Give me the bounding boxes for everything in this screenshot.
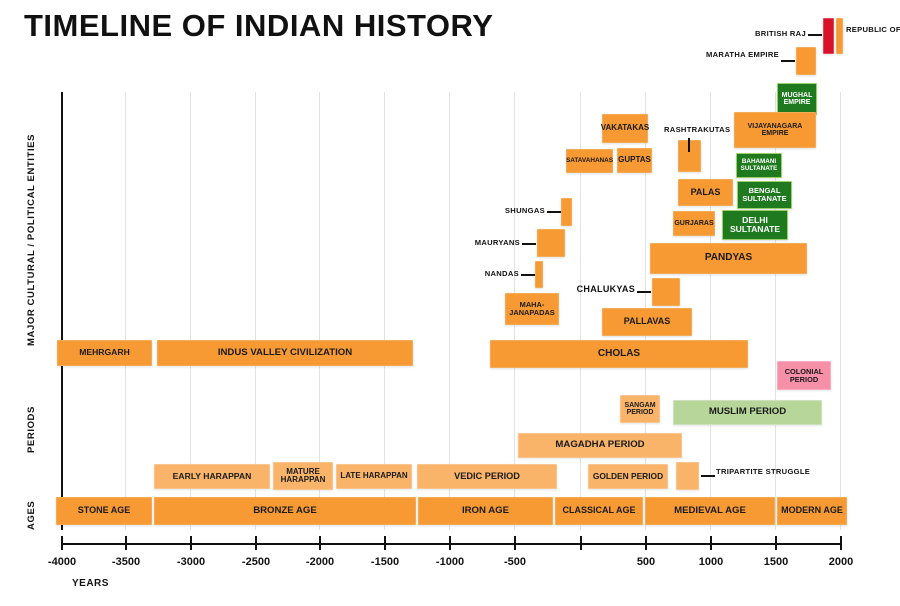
label-british-raj: BRITISH RAJ bbox=[694, 30, 806, 39]
label-medieval-age: MEDIEVAL AGE bbox=[672, 506, 748, 516]
leader-line-maratha bbox=[781, 60, 795, 62]
axis-group-ages: AGES bbox=[26, 492, 37, 538]
label-late-harappan: LATE HARAPPAN bbox=[338, 472, 409, 480]
label-chalukyas: CHALUKYAS bbox=[556, 284, 635, 294]
chart-plot-area: MAJOR CULTURAL / POLITICAL ENTITIES PERI… bbox=[0, 0, 900, 606]
x-axis-line bbox=[61, 543, 841, 545]
label-pandyas: PANDYAS bbox=[703, 253, 754, 264]
bar-vakatakas[interactable]: VAKATAKAS bbox=[602, 114, 648, 143]
label-cholas: CHOLAS bbox=[596, 349, 642, 360]
label-rashtrakutas: RASHTRAKUTAS bbox=[664, 126, 730, 135]
x-tick bbox=[190, 536, 192, 550]
label-vakatakas: VAKATAKAS bbox=[599, 124, 651, 132]
bar-bahamani-sultanate[interactable]: BAHAMANI SULTANATE bbox=[736, 153, 782, 178]
bar-pandyas[interactable]: PANDYAS bbox=[650, 243, 807, 274]
leader-line-chalukyas bbox=[637, 291, 651, 293]
label-bahamani-line2: SULTANATE bbox=[739, 166, 780, 173]
gridline bbox=[125, 92, 126, 530]
y-axis-line bbox=[61, 92, 63, 530]
bar-chalukyas[interactable] bbox=[652, 278, 680, 306]
label-republic-of-india: REPUBLIC OF INDIA bbox=[846, 26, 900, 35]
x-tick bbox=[125, 536, 127, 550]
label-stone-age: STONE AGE bbox=[76, 506, 133, 515]
bar-magadha-period[interactable]: MAGADHA PERIOD bbox=[518, 433, 682, 458]
x-tick bbox=[775, 536, 777, 550]
bar-delhi-sultanate[interactable]: DELHI SULTANATE bbox=[722, 210, 788, 240]
leader-line-nandas bbox=[521, 274, 535, 276]
leader-line-british-raj bbox=[808, 34, 822, 36]
bar-tripartite-struggle[interactable] bbox=[676, 462, 699, 490]
bar-indus-valley-civilization[interactable]: INDUS VALLEY CIVILIZATION bbox=[157, 340, 413, 366]
x-tick-label: 2000 bbox=[811, 556, 871, 568]
leader-line-tripartite bbox=[701, 475, 715, 477]
label-golden-period: GOLDEN PERIOD bbox=[591, 472, 665, 481]
x-tick-label: 500 bbox=[616, 556, 676, 568]
label-bengal-line2: SULTANATE bbox=[740, 195, 788, 203]
x-tick-label: -1500 bbox=[355, 556, 415, 568]
label-shungas: SHUNGAS bbox=[460, 207, 545, 216]
bar-mehrgarh[interactable]: MEHRGARH bbox=[57, 340, 152, 366]
x-tick bbox=[645, 536, 647, 550]
bar-shungas[interactable] bbox=[561, 198, 572, 226]
bar-stone-age[interactable]: STONE AGE bbox=[56, 497, 152, 525]
label-mughal-line1: MUGHAL bbox=[780, 92, 815, 99]
x-tick-label: -2500 bbox=[226, 556, 286, 568]
bar-sangam-period[interactable]: SANGAM PERIOD bbox=[620, 395, 660, 423]
label-iron-age: IRON AGE bbox=[460, 506, 511, 516]
bar-classical-age[interactable]: CLASSICAL AGE bbox=[555, 497, 643, 525]
label-sangam-line2: PERIOD bbox=[625, 409, 656, 416]
bar-british-raj[interactable] bbox=[823, 18, 834, 54]
x-tick-label: 1500 bbox=[746, 556, 806, 568]
x-tick bbox=[840, 536, 842, 550]
label-mehrgarh: MEHRGARH bbox=[77, 348, 132, 357]
bar-maratha-empire[interactable] bbox=[796, 47, 816, 75]
label-pallavas: PALLAVAS bbox=[622, 317, 673, 326]
x-tick-label: -3500 bbox=[96, 556, 156, 568]
label-republic-of-india-line1: REPUBLIC OF bbox=[846, 25, 900, 34]
x-tick bbox=[384, 536, 386, 550]
bar-mughal-empire[interactable]: MUGHAL EMPIRE bbox=[777, 83, 817, 115]
x-tick bbox=[710, 536, 712, 550]
bar-satavahanas[interactable]: SATAVAHANAS bbox=[566, 149, 613, 173]
label-tripartite-line1: TRIPARTITE bbox=[716, 467, 763, 476]
bar-mauryans[interactable] bbox=[537, 229, 565, 257]
bar-mature-harappan[interactable]: MATURE HARAPPAN bbox=[273, 462, 333, 490]
bar-gurjaras[interactable]: GURJARAS bbox=[673, 211, 715, 236]
x-tick bbox=[319, 536, 321, 550]
x-tick-label: -500 bbox=[485, 556, 545, 568]
label-maratha-line1: MARATHA bbox=[706, 50, 746, 59]
leader-line-rashtrakutas bbox=[688, 138, 690, 152]
label-gurjaras: GURJARAS bbox=[672, 220, 715, 227]
bar-early-harappan[interactable]: EARLY HARAPPAN bbox=[154, 464, 270, 489]
bar-nandas[interactable] bbox=[535, 261, 543, 288]
label-palas: PALAS bbox=[689, 188, 723, 197]
label-tripartite-struggle: TRIPARTITE STRUGGLE bbox=[716, 468, 810, 477]
label-tripartite-line2: STRUGGLE bbox=[766, 467, 811, 476]
label-nandas: NANDAS bbox=[435, 270, 519, 279]
x-tick bbox=[449, 536, 451, 550]
gridline bbox=[840, 92, 841, 530]
bar-colonial-period[interactable]: COLONIAL PERIOD bbox=[777, 361, 831, 390]
x-tick bbox=[580, 536, 582, 550]
x-tick-label: -1000 bbox=[420, 556, 480, 568]
label-classical-age: CLASSICAL AGE bbox=[560, 506, 637, 515]
label-maratha-line2: EMPIRE bbox=[748, 50, 779, 59]
label-bronze-age: BRONZE AGE bbox=[251, 506, 319, 516]
x-tick bbox=[255, 536, 257, 550]
label-modern-age: MODERN AGE bbox=[779, 506, 845, 515]
label-vijayanagara-line1: VIJAYANAGARA bbox=[746, 123, 805, 130]
leader-line-mauryans bbox=[522, 243, 536, 245]
bar-modern-age[interactable]: MODERN AGE bbox=[777, 497, 847, 525]
bar-medieval-age[interactable]: MEDIEVAL AGE bbox=[645, 497, 775, 525]
axis-group-periods: PERIODS bbox=[26, 390, 37, 470]
label-indus-valley: INDUS VALLEY CIVILIZATION bbox=[216, 348, 354, 358]
x-tick bbox=[61, 536, 63, 550]
timeline-infographic: TIMELINE OF INDIAN HISTORY MAJOR CULTURA… bbox=[0, 0, 900, 606]
bar-maha-janapadas[interactable]: MAHA- JANAPADAS bbox=[505, 293, 559, 325]
bar-bronze-age[interactable]: BRONZE AGE bbox=[154, 497, 416, 525]
x-tick-label: 1000 bbox=[681, 556, 741, 568]
label-satavahanas: SATAVAHANAS bbox=[564, 158, 615, 165]
x-tick-label: -2000 bbox=[290, 556, 350, 568]
bar-pallavas[interactable]: PALLAVAS bbox=[602, 308, 692, 336]
bar-bengal-sultanate[interactable]: BENGAL SULTANATE bbox=[737, 181, 792, 209]
label-mughal-line2: EMPIRE bbox=[782, 99, 813, 106]
bar-cholas[interactable]: CHOLAS bbox=[490, 340, 748, 368]
bar-vijayanagara-empire[interactable]: VIJAYANAGARA EMPIRE bbox=[734, 112, 816, 148]
label-vedic-period: VEDIC PERIOD bbox=[452, 472, 522, 482]
label-mauryans: MAURYANS bbox=[432, 239, 520, 248]
label-early-harappan: EARLY HARAPPAN bbox=[171, 472, 254, 481]
bar-guptas[interactable]: GUPTAS bbox=[617, 148, 652, 173]
label-sangam-line1: SANGAM bbox=[622, 402, 657, 409]
label-muslim-period: MUSLIM PERIOD bbox=[707, 407, 788, 417]
bar-palas[interactable]: PALAS bbox=[678, 179, 733, 206]
axis-group-entities: MAJOR CULTURAL / POLITICAL ENTITIES bbox=[26, 110, 37, 370]
label-maha-janapadas-line2: JANAPADAS bbox=[507, 309, 556, 317]
gridline bbox=[710, 92, 711, 530]
label-maratha-empire: MARATHA EMPIRE bbox=[690, 51, 779, 60]
bar-late-harappan[interactable]: LATE HARAPPAN bbox=[336, 464, 412, 489]
leader-line-shungas bbox=[547, 211, 561, 213]
label-vijayanagara-line2: EMPIRE bbox=[760, 130, 791, 137]
x-tick bbox=[514, 536, 516, 550]
bar-republic-of-india[interactable] bbox=[836, 18, 843, 54]
label-magadha-period: MAGADHA PERIOD bbox=[553, 440, 646, 450]
label-mature-harappan-line2: HARAPPAN bbox=[279, 476, 328, 484]
bar-golden-period[interactable]: GOLDEN PERIOD bbox=[588, 464, 668, 489]
label-delhi-line2: SULTANATE bbox=[728, 225, 782, 234]
label-colonial-line2: PERIOD bbox=[788, 376, 820, 384]
x-tick-label: -3000 bbox=[161, 556, 221, 568]
bar-iron-age[interactable]: IRON AGE bbox=[418, 497, 553, 525]
x-tick-label: -4000 bbox=[32, 556, 92, 568]
x-axis-label: YEARS bbox=[72, 578, 109, 589]
bar-vedic-period[interactable]: VEDIC PERIOD bbox=[417, 464, 557, 489]
label-guptas: GUPTAS bbox=[616, 156, 653, 164]
bar-muslim-period[interactable]: MUSLIM PERIOD bbox=[673, 400, 822, 425]
